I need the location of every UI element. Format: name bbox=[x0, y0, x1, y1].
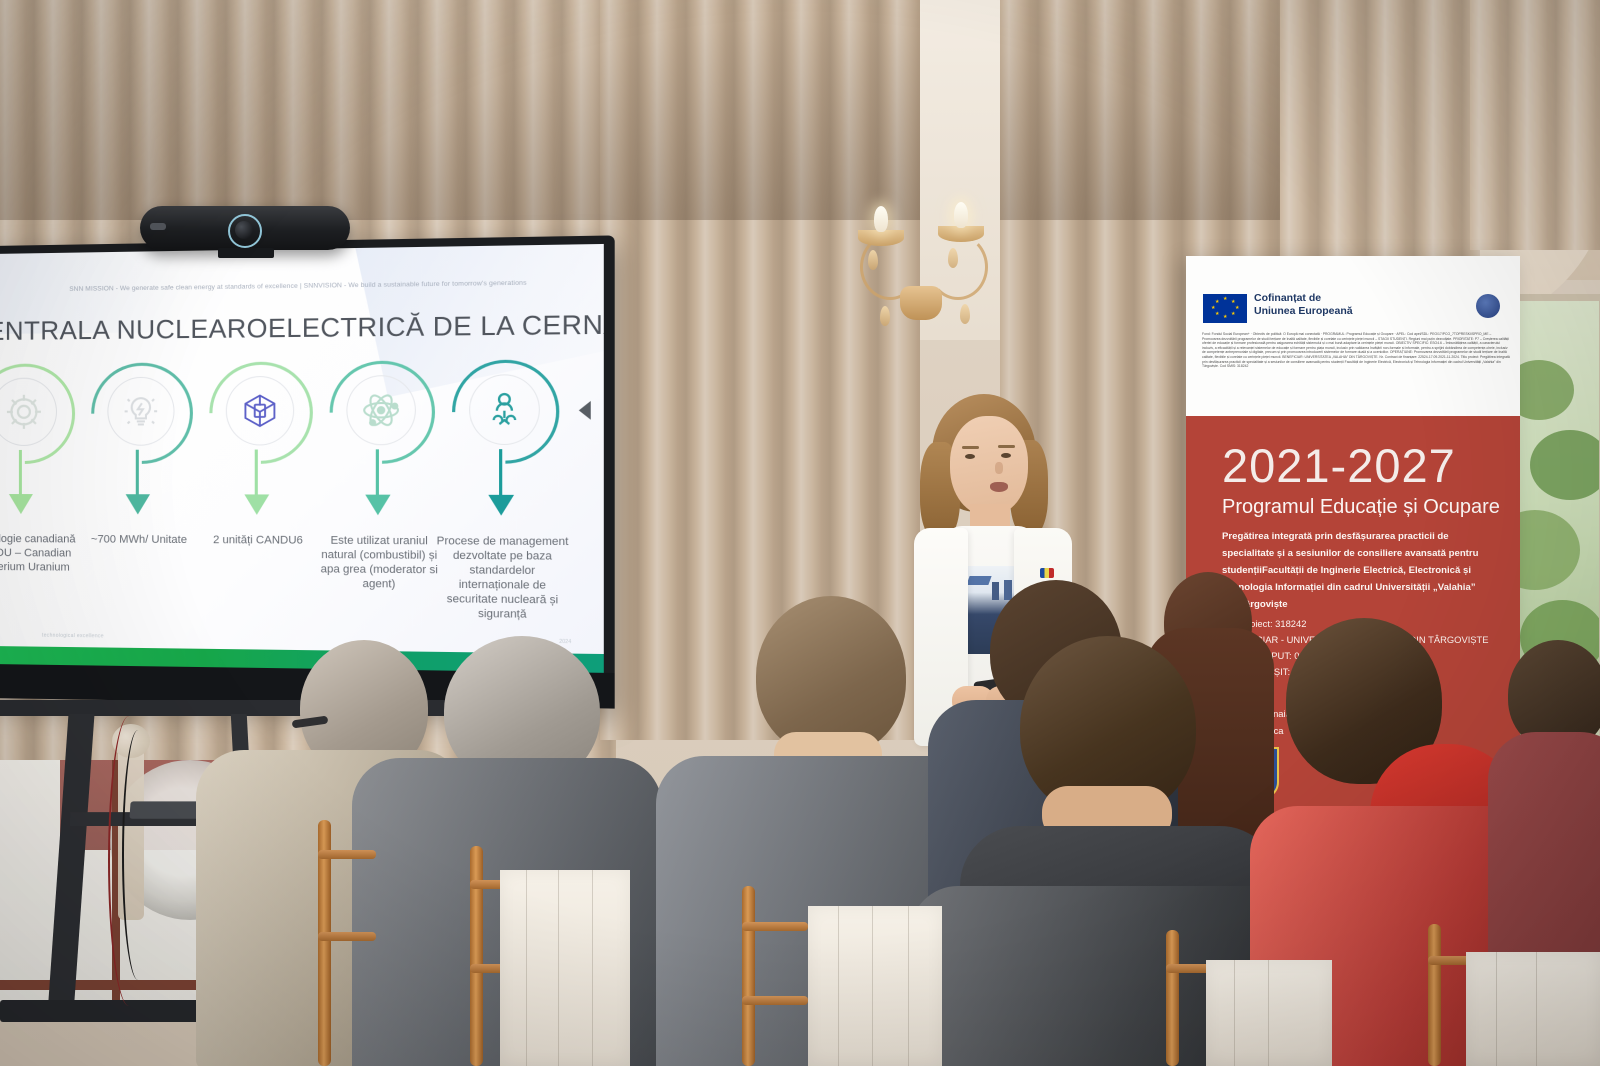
chair[interactable] bbox=[318, 820, 378, 1066]
presenter-brow bbox=[962, 446, 979, 449]
presenter-eye bbox=[965, 454, 975, 459]
banner-header-white: ★ ★ ★ ★ ★ ★ ★ ★ Cofinanțat de Uniunea Eu… bbox=[1186, 256, 1520, 416]
romanian-government-seal-icon bbox=[1476, 294, 1500, 318]
slide-label-3: 2 unități CANDU6 bbox=[192, 533, 324, 548]
cube-icon bbox=[240, 391, 279, 430]
presentation-slide: SNN MISSION - We generate safe clean ene… bbox=[0, 244, 604, 673]
camera-side-vent bbox=[150, 223, 166, 230]
bubble-3 bbox=[209, 361, 306, 463]
slide-column-3: 2 unități CANDU6 bbox=[198, 361, 318, 464]
presenter-nose bbox=[995, 462, 1003, 474]
tv-screen: SNN MISSION - We generate safe clean ene… bbox=[0, 244, 604, 673]
presenter-brow bbox=[998, 445, 1015, 448]
slide-label-5: Procese de management dezvoltate pe baza… bbox=[434, 534, 571, 622]
banner-fine-print: Fond: Fondul Social European+ · Obiectiv… bbox=[1202, 332, 1510, 369]
slide-title: CENTRALA NUCLEAROELECTRICĂ DE LA CERNAVO… bbox=[0, 309, 591, 347]
banner-program-name: Programul Educație și Ocupare bbox=[1222, 496, 1500, 519]
lightbulb-icon bbox=[122, 392, 161, 431]
photo-scene: ★ ★ ★ ★ ★ ★ ★ ★ Cofinanțat de Uniunea Eu… bbox=[0, 0, 1600, 1066]
slide-label-2: ~700 MWh/ Unitate bbox=[74, 532, 204, 547]
curtain-right bbox=[1280, 0, 1480, 300]
candle-bulb-right bbox=[954, 202, 968, 228]
chair-cover bbox=[808, 906, 942, 1066]
video-conference-camera[interactable] bbox=[140, 206, 350, 250]
slide-column-2: ~700 MWh/ Unitate bbox=[80, 362, 198, 464]
slide-infographic: Tehnologie canadiană CANDU – Canadian De… bbox=[0, 359, 604, 673]
slide-prev-arrow-icon[interactable] bbox=[579, 401, 591, 420]
atom-icon bbox=[360, 390, 402, 431]
eu-flag-icon: ★ ★ ★ ★ ★ ★ ★ ★ bbox=[1203, 294, 1247, 323]
eu-cofinancing-text: Cofinanțat de Uniunea Europeană bbox=[1254, 292, 1353, 318]
sconce-backplate bbox=[900, 286, 942, 320]
chair[interactable] bbox=[742, 886, 812, 1066]
slide-footer-left: technological excellence bbox=[42, 633, 104, 640]
slide-column-5: Procese de management dezvoltate pe baza… bbox=[440, 359, 564, 463]
slide-column-4: Este utilizat uraniul natural (combustib… bbox=[318, 360, 440, 463]
slide-label-4: Este utilizat uraniul natural (combustib… bbox=[312, 533, 447, 592]
slide-column-1: Tehnologie canadiană CANDU – Canadian De… bbox=[0, 363, 80, 464]
romanian-flag-pin-icon bbox=[1040, 568, 1054, 578]
gear-icon bbox=[4, 392, 44, 432]
presenter-eye bbox=[1001, 453, 1011, 458]
chair-cover bbox=[1206, 960, 1332, 1066]
curtain-far-right bbox=[1470, 0, 1600, 250]
presenter-face bbox=[950, 416, 1028, 516]
banner-years: 2021-2027 bbox=[1222, 438, 1456, 493]
presenter-mouth bbox=[990, 482, 1008, 492]
camera-lens-icon bbox=[235, 221, 253, 239]
wall-sconce bbox=[852, 188, 992, 328]
bubble-5 bbox=[452, 359, 553, 463]
chair-cover bbox=[500, 870, 630, 1066]
bubble-2 bbox=[91, 362, 187, 464]
engineer-icon bbox=[483, 389, 526, 431]
bubble-1 bbox=[0, 363, 69, 464]
hdmi-cable bbox=[122, 730, 154, 980]
camera-mount bbox=[218, 248, 274, 258]
chair-cover bbox=[1466, 952, 1600, 1066]
candle-bulb-left bbox=[874, 206, 888, 232]
bubble-4 bbox=[330, 360, 429, 463]
